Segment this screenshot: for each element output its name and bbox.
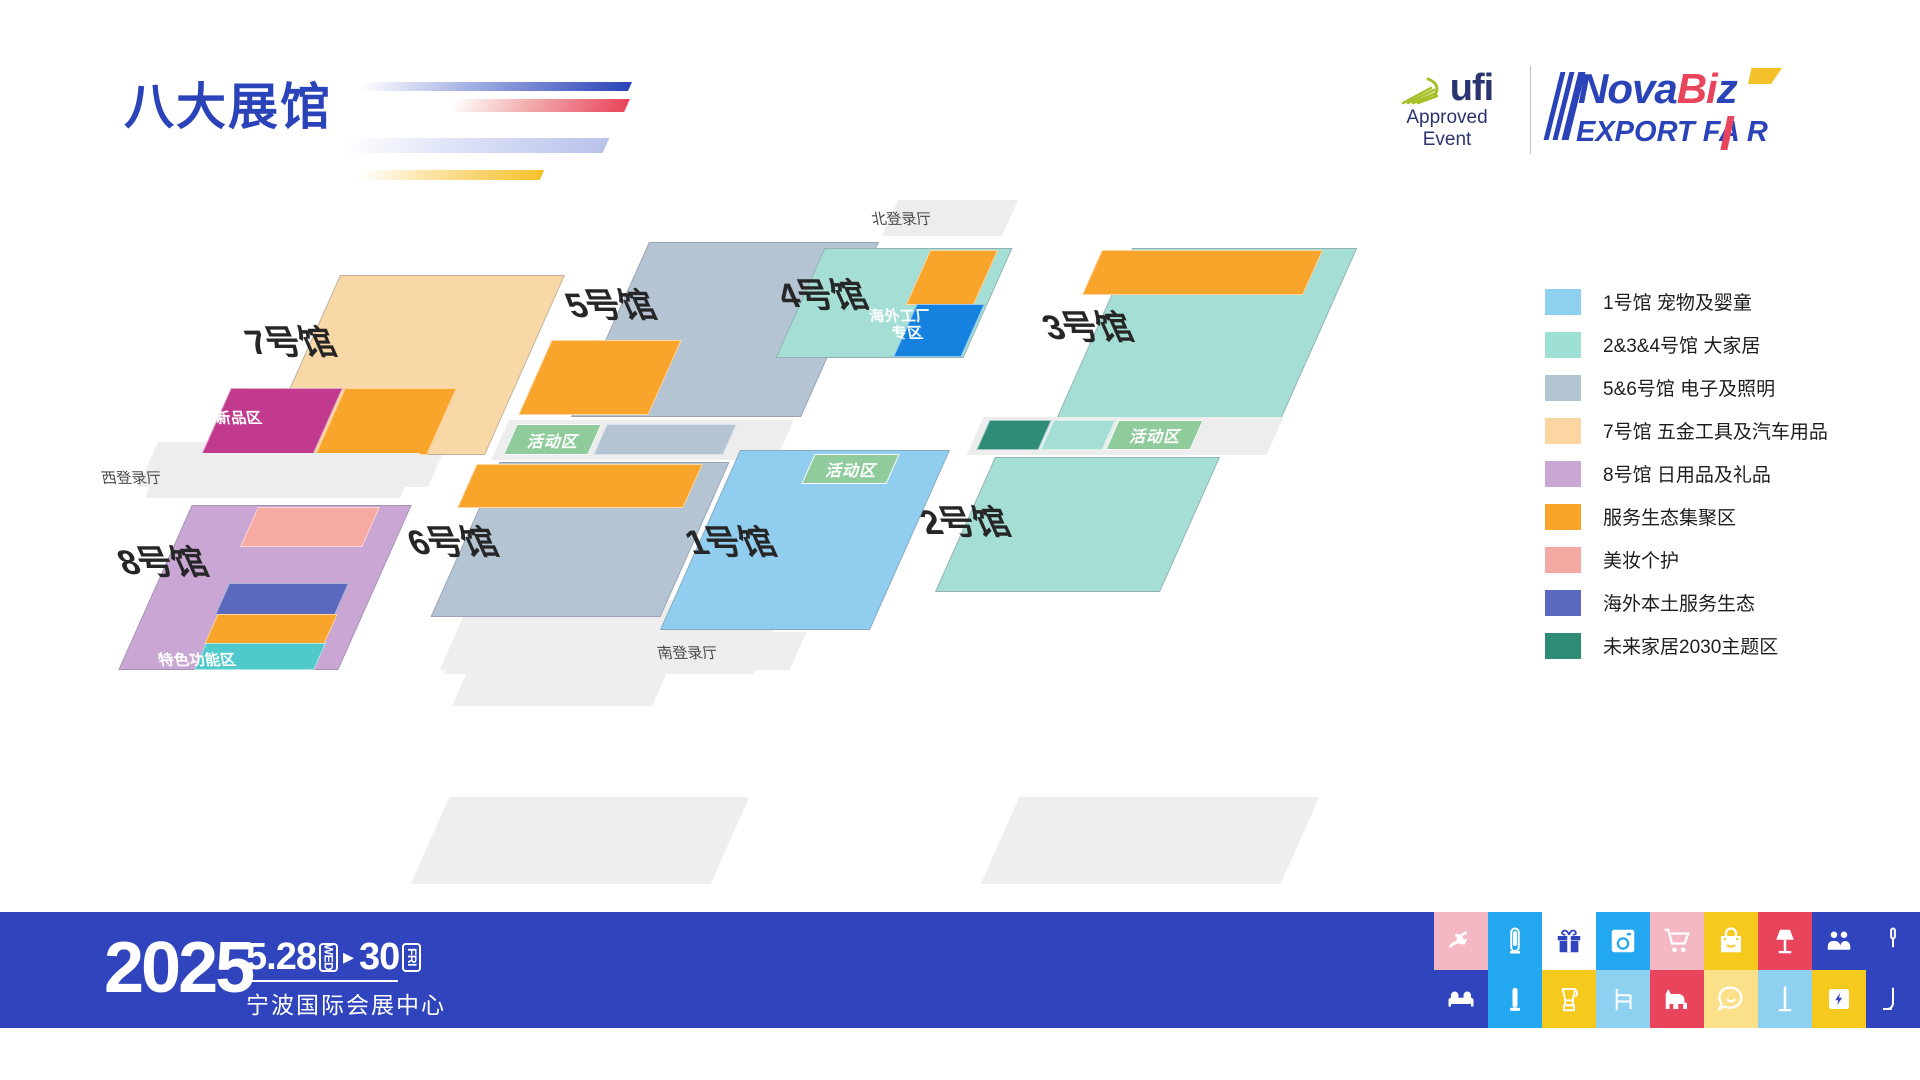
legend-label-future-home: 未来家居2030主题区 <box>1603 632 1778 659</box>
legend-label-hall56: 5&6号馆 电子及照明 <box>1603 374 1775 401</box>
footer-year: 2025 <box>104 932 252 1004</box>
hall-56-side-block[interactable] <box>593 424 737 455</box>
legend-item-hall8[interactable]: 8号馆 日用品及礼品 <box>1545 452 1915 495</box>
decor-bar-blue <box>358 82 632 91</box>
page-title: 八大展馆 <box>124 82 332 132</box>
hall-3-sub-service[interactable] <box>1082 250 1323 295</box>
footer-dates: 5.28 WED ▸ 30 FRI <box>246 938 421 976</box>
vacuum-icon <box>1866 912 1920 970</box>
exhibition-floor-map: 7号馆 专利新品区 西登录厅 8号馆 特色功能区 5号馆 活动区 6号馆 北登录… <box>0 190 1530 900</box>
legend-label-overseas-local: 海外本土服务生态 <box>1603 589 1755 616</box>
ufi-wordmark: ufi <box>1450 70 1493 106</box>
footer-date-start: 5.28 <box>246 938 316 976</box>
legend-item-beauty[interactable]: 美妆个护 <box>1545 538 1915 581</box>
legend-item-hall7[interactable]: 7号馆 五金工具及汽车用品 <box>1545 409 1915 452</box>
legend-label-beauty: 美妆个护 <box>1603 546 1679 573</box>
ghost-shape-a <box>452 670 668 706</box>
activity-zone-1[interactable]: 活动区 <box>801 454 899 484</box>
activity-zone-1-label: 活动区 <box>825 457 876 481</box>
ghost-shape-d <box>411 797 750 884</box>
novabiz-z: z <box>1717 65 1737 112</box>
footer-date-end: 30 <box>359 938 399 976</box>
hall-8-sub-service[interactable] <box>204 614 337 644</box>
legend-swatch-beauty <box>1545 547 1581 573</box>
hall-2[interactable] <box>935 457 1220 592</box>
legend-item-service-eco[interactable]: 服务生态集聚区 <box>1545 495 1915 538</box>
shopping-cart-icon <box>1650 912 1704 970</box>
legend-item-hall1[interactable]: 1号馆 宠物及婴童 <box>1545 280 1915 323</box>
legend-label-service-eco: 服务生态集聚区 <box>1603 503 1736 530</box>
map-legend: 1号馆 宠物及婴童 2&3&4号馆 大家居 5&6号馆 电子及照明 7号馆 五金… <box>1545 280 1915 667</box>
hall-6-sub-service[interactable] <box>457 464 703 508</box>
decor-bar-yellow <box>358 170 544 180</box>
page-header: 八大展馆 ufi Approved Event NovaBiz <box>0 0 1920 190</box>
novabiz-logo: NovaBiz EXPORT FA R <box>1552 62 1782 158</box>
rocking-horse-icon <box>1434 912 1488 970</box>
battery-icon <box>1812 970 1866 1028</box>
ufi-event-label: Event <box>1382 130 1512 150</box>
legend-item-hall56[interactable]: 5&6号馆 电子及照明 <box>1545 366 1915 409</box>
legend-swatch-hall234 <box>1545 332 1581 358</box>
novabiz-yellow-accent <box>1748 68 1782 84</box>
legend-label-hall234: 2&3&4号馆 大家居 <box>1603 331 1760 358</box>
ufi-approved-label: Approved <box>1382 108 1512 128</box>
floor-lamp-icon <box>1758 912 1812 970</box>
north-entrance-label: 北登录厅 <box>865 208 934 229</box>
ufi-swoosh-icon <box>1401 76 1447 106</box>
people-icon <box>1812 912 1866 970</box>
activity-zone-56[interactable]: 活动区 <box>503 424 602 455</box>
chair-icon <box>1596 970 1650 1028</box>
novabiz-i: i <box>1706 65 1717 112</box>
legend-swatch-overseas-local <box>1545 590 1581 616</box>
legend-swatch-hall56 <box>1545 375 1581 401</box>
air-purifier-icon <box>1488 912 1542 970</box>
legend-label-hall1: 1号馆 宠物及婴童 <box>1603 288 1752 315</box>
floor-lamp-icon-2 <box>1758 970 1812 1028</box>
activity-zone-23[interactable]: 活动区 <box>1105 420 1203 450</box>
west-entrance-shape <box>145 453 420 498</box>
footer-venue: 宁波国际会展中心 <box>246 986 446 1020</box>
activity-zone-56-label: 活动区 <box>527 428 578 452</box>
tower-fan-icon <box>1488 970 1542 1028</box>
hall-7-patent-label: 专利新品区 <box>178 407 265 428</box>
legend-swatch-future-home <box>1545 633 1581 659</box>
novabiz-subtitle: EXPORT FA R <box>1576 118 1768 147</box>
legend-item-overseas-local[interactable]: 海外本土服务生态 <box>1545 581 1915 624</box>
decor-bar-light-blue <box>341 138 610 153</box>
hall-8-sub-beauty[interactable] <box>240 507 380 547</box>
washing-machine-icon <box>1596 912 1650 970</box>
legend-swatch-hall8 <box>1545 461 1581 487</box>
logo-divider <box>1530 66 1531 154</box>
legend-label-hall7: 7号馆 五金工具及汽车用品 <box>1603 417 1828 444</box>
sofa-icon <box>1434 970 1488 1028</box>
legend-item-future-home[interactable]: 未来家居2030主题区 <box>1545 624 1915 667</box>
footer-divider <box>246 980 398 982</box>
dog-icon <box>1650 970 1704 1028</box>
south-entrance-label: 南登录厅 <box>651 642 720 663</box>
legend-label-hall8: 8号馆 日用品及礼品 <box>1603 460 1771 487</box>
legend-swatch-service-eco <box>1545 504 1581 530</box>
footer-day-start: WED <box>319 943 338 972</box>
legend-swatch-hall1 <box>1545 289 1581 315</box>
hall-8-sub-overseas[interactable] <box>215 583 349 615</box>
novabiz-b: B <box>1677 65 1706 112</box>
gift-icon <box>1542 912 1596 970</box>
footer-arrow-icon: ▸ <box>343 944 354 970</box>
chat-bubble-icon <box>1704 970 1758 1028</box>
ghost-shape-e <box>981 797 1320 884</box>
novabiz-nova: Nova <box>1578 65 1677 112</box>
handbag-icon <box>1704 912 1758 970</box>
hall-8-feature-label: 特色功能区 <box>152 649 239 670</box>
decor-bar-red <box>449 99 630 112</box>
west-entrance-label: 西登录厅 <box>95 467 164 488</box>
blender-icon <box>1542 970 1596 1028</box>
footer-day-end: FRI <box>402 943 421 972</box>
vacuum-base-icon <box>1866 970 1920 1028</box>
novabiz-slash-decor <box>1552 72 1578 140</box>
product-category-icon-strip <box>1434 912 1920 1028</box>
legend-item-hall234[interactable]: 2&3&4号馆 大家居 <box>1545 323 1915 366</box>
novabiz-wordmark: NovaBiz <box>1578 68 1737 110</box>
ufi-logo: ufi Approved Event <box>1382 68 1512 153</box>
legend-swatch-hall7 <box>1545 418 1581 444</box>
activity-zone-23-label: 活动区 <box>1129 423 1180 447</box>
